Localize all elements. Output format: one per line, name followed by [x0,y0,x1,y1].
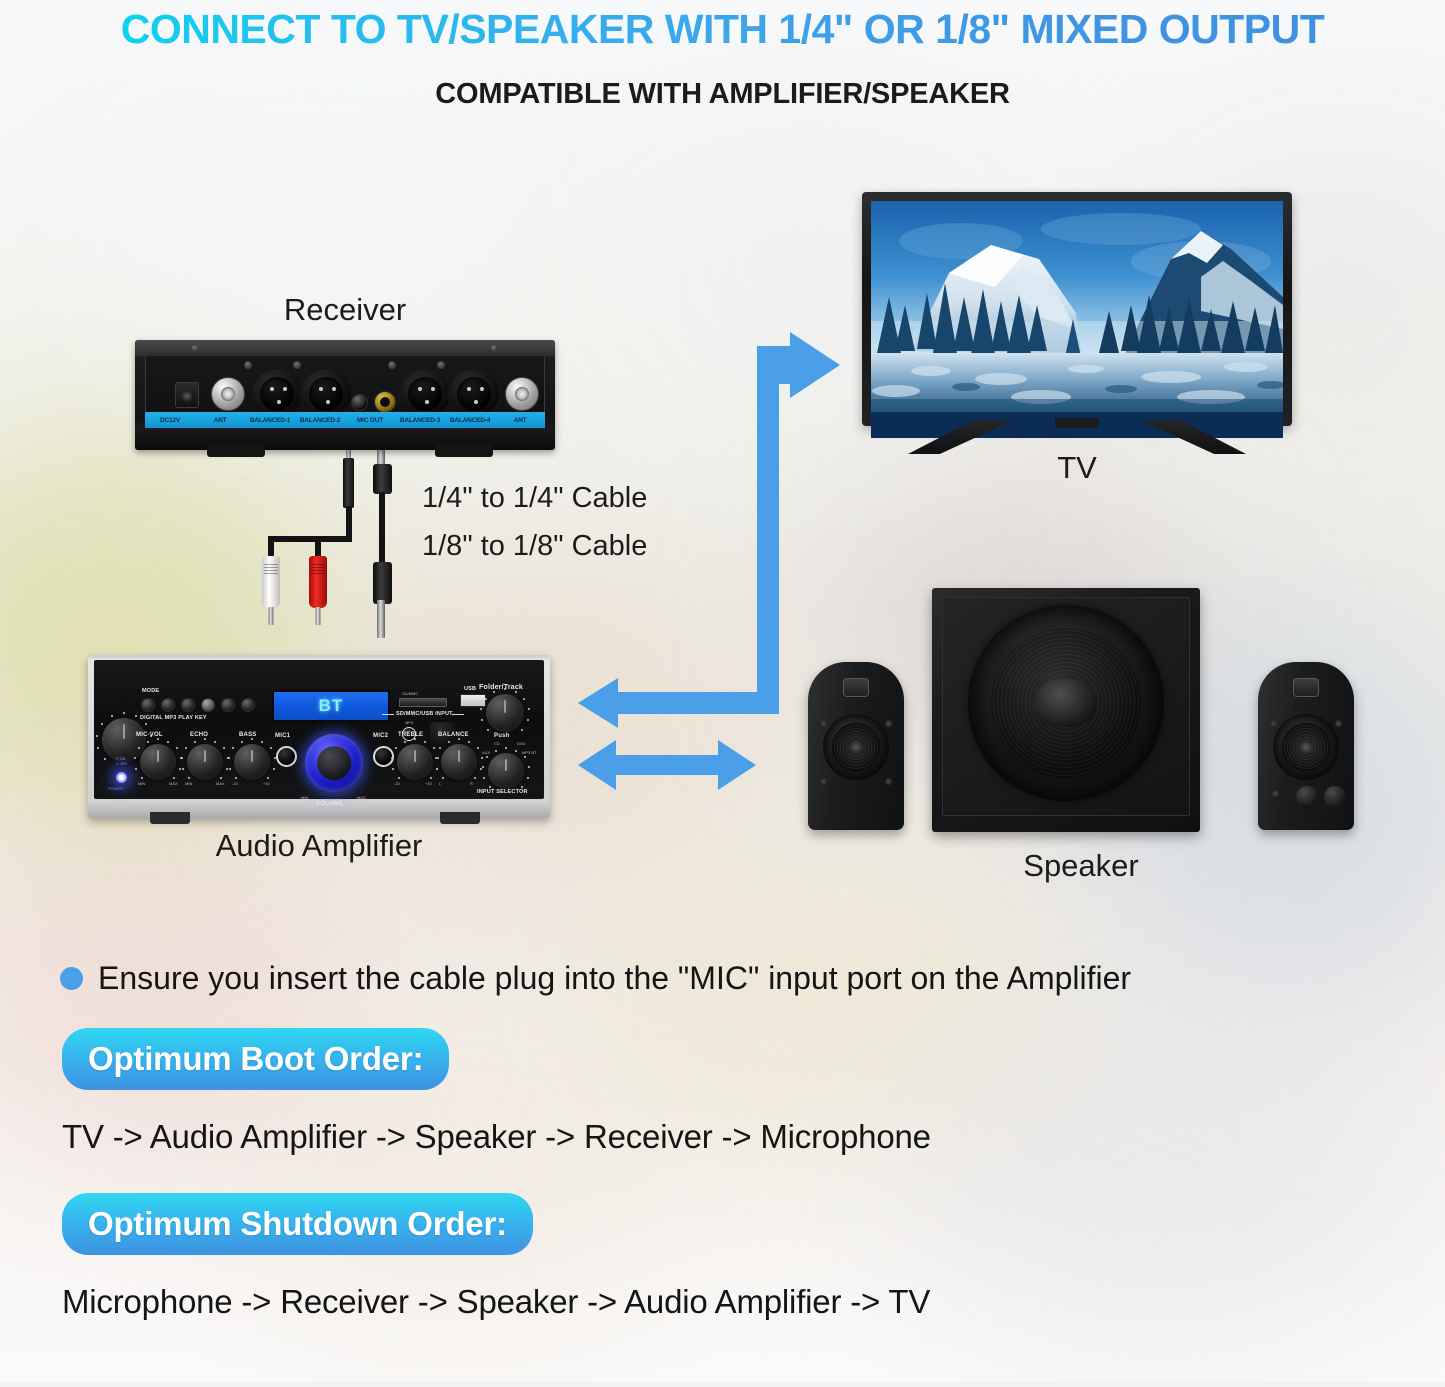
mic-vol-knob[interactable] [140,744,176,780]
sd-card-slot[interactable] [399,698,447,707]
amplifier-lcd-display: BT [272,690,390,722]
cable-assembly: 1/4" to 1/4" Cable 1/8" to 1/8" Cable [250,440,450,660]
dc12v-jack [175,382,199,408]
balance-max: R [470,781,473,786]
boot-order-text: TV -> Audio Amplifier -> Speaker -> Rece… [62,1118,931,1156]
mode-button[interactable] [141,698,155,712]
port-label-mic-out: MIC OUT [345,417,395,424]
power-mode-marks: ≡ ON≡ OFF [116,756,127,766]
treble-max: +10 [425,781,432,786]
port-label-balanced-1: BALANCED-1 [245,417,295,424]
speaker-caption: Speaker [808,848,1354,884]
cable-label-quarter-inch: 1/4" to 1/4" Cable [422,482,647,515]
cable-wire-drop-red [315,536,321,558]
port-label-balanced-3: BALANCED-3 [395,417,445,424]
treble-label: TREBLE [398,732,423,738]
mic2-label: MIC2 [373,733,388,739]
amplifier-caption: Audio Amplifier [88,828,550,864]
mic-vol-max: MAX [169,781,178,786]
bass-label: BASS [239,732,256,738]
satellite-speaker-right [1258,662,1354,830]
tv-winter-landscape-image [871,201,1283,412]
input-selector-pos-cd: CD [494,741,500,746]
card-input-label: SD/MMC/USB INPUT [396,711,453,717]
digital-mp3-play-key-label: DIGITAL MP3 PLAY KEY [140,715,207,721]
port-label-ant-right: ANT [495,417,545,424]
speaker-driver [1273,714,1339,780]
port-label-balanced-2: BALANCED-2 [295,417,345,424]
quarter-inch-plug-body-bottom [373,562,392,604]
balance-min: L [439,781,441,786]
mic-out-small-jack [351,394,368,411]
balance-label: BALANCE [438,732,469,738]
port-label-balanced-4: BALANCED-4 [445,417,495,424]
power-label: POWER [108,786,123,791]
lcd-display-text: BT [319,696,344,716]
treble-min: -10 [394,781,400,786]
mic1-input-port[interactable] [276,746,297,767]
rca-plug-red [309,556,327,608]
balance-knob[interactable] [441,744,477,780]
tv-caption: TV [862,450,1292,486]
port-label-dc12v: DC12V [145,417,195,424]
speaker-system [808,588,1354,850]
shutdown-order-badge: Optimum Shutdown Order: [62,1193,533,1255]
cable-label-eighth-inch: 1/8" to 1/8" Cable [422,530,647,563]
mode-label: MODE [142,688,159,694]
input-selector-knob[interactable] [488,753,524,789]
volume-min: MIN [301,795,308,800]
mic1-label: MIC1 [275,733,290,739]
satellite-speaker-left [808,662,904,830]
speaker-logo-badge [1293,678,1319,697]
bullet-dot-icon [60,967,83,990]
audio-amplifier-device: POWER ≡ ON≡ OFF MODE DIGITAL MP3 PLAY KE… [88,655,550,818]
bass-min: -10 [232,781,238,786]
bass-max: +10 [263,781,270,786]
input-selector-pos-aux: AUX [482,750,490,755]
treble-knob[interactable] [397,744,433,780]
subwoofer-driver [968,605,1164,801]
echo-min: MIN [185,781,192,786]
folder-track-label: Folder/Track [479,684,523,691]
repeat-button[interactable] [201,698,215,712]
mic-port-note-text: Ensure you insert the cable plug into th… [98,960,1131,997]
folder-track-knob[interactable] [486,694,524,732]
speaker-driver [823,714,889,780]
input-selector-label: INPUT SELECTOR [477,789,528,795]
tv-screen [871,201,1283,438]
mic-vol-min: MIN [138,781,145,786]
receiver-caption: Receiver [135,292,555,328]
rca-plug-white [262,556,280,608]
ant-left-connector [211,377,245,411]
input-selector-pos-mp3: MP3 BT [522,750,536,755]
next-track-button[interactable] [221,698,235,712]
stop-button[interactable] [181,698,195,712]
volume-max: MAX [357,795,366,800]
cable-wire-drop-white [268,536,274,558]
page-subtitle: COMPATIBLE WITH AMPLIFIER/SPEAKER [0,78,1445,111]
quarter-inch-plug-body-top [373,464,392,494]
subwoofer [932,588,1200,832]
speaker-volume-knob[interactable] [1296,786,1318,808]
quarter-inch-cable-wire [379,492,385,570]
boot-order-badge: Optimum Boot Order: [62,1028,449,1090]
volume-label: VOLUME [316,801,343,807]
push-label: Push [494,733,509,739]
mute-button[interactable] [161,698,175,712]
receiver-port-label-strip: DC12V ANT BALANCED-1 BALANCED-2 MIC OUT … [145,412,545,428]
speaker-logo-badge [843,678,869,697]
usb-label: USB [464,686,476,692]
sd-mmc-slot-label: SD/MMC [402,691,418,696]
shutdown-order-badge-label: Optimum Shutdown Order: [88,1205,507,1243]
prev-track-button[interactable] [241,698,255,712]
page-title: CONNECT TO TV/SPEAKER WITH 1/4" OR 1/8" … [0,6,1445,53]
shutdown-order-text: Microphone -> Receiver -> Speaker -> Aud… [62,1283,930,1321]
port-label-ant-left: ANT [195,417,245,424]
mp3-label: MP3 [405,720,413,725]
volume-knob[interactable] [305,734,363,792]
quarter-inch-plug-tip-bottom [377,600,385,638]
cable-wire-horizontal [268,536,352,542]
receiver-device: DC12V ANT BALANCED-1 BALANCED-2 MIC OUT … [135,340,555,450]
tv-device [862,192,1292,452]
mic-vol-label: MIC-VOL [136,732,163,738]
speaker-bass-knob[interactable] [1324,786,1346,808]
eighth-inch-plug-body [343,458,354,508]
echo-knob[interactable] [187,744,223,780]
bass-knob[interactable] [234,744,270,780]
power-led-indicator [116,772,127,783]
boot-order-badge-label: Optimum Boot Order: [88,1040,423,1078]
usb-port[interactable] [460,694,486,707]
mic-port-note: Ensure you insert the cable plug into th… [60,960,1131,997]
ant-right-connector [505,377,539,411]
mic-out-quarter-jack [374,391,396,413]
echo-max: MAX [216,781,225,786]
input-selector-pos-dvd: DVD [517,741,525,746]
